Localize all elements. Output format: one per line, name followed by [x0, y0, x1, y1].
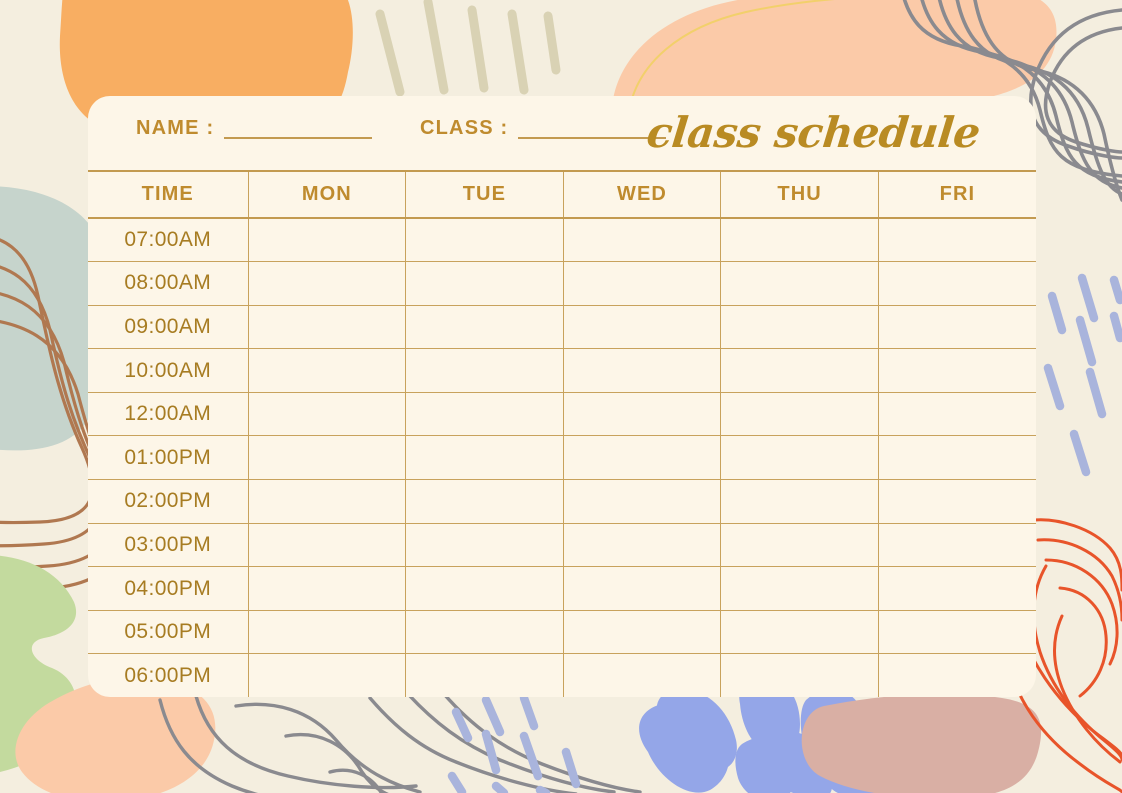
class-field-group: CLASS :: [420, 118, 666, 140]
schedule-cell[interactable]: [721, 218, 879, 262]
schedule-cell[interactable]: [248, 523, 406, 567]
schedule-cell[interactable]: [406, 218, 564, 262]
schedule-cell[interactable]: [721, 392, 879, 436]
schedule-cell[interactable]: [878, 218, 1036, 262]
table-row: 01:00PM: [88, 436, 1036, 480]
schedule-cell[interactable]: [406, 610, 564, 654]
schedule-cell[interactable]: [406, 349, 564, 393]
schedule-cell[interactable]: [563, 480, 721, 524]
time-label: 05:00PM: [88, 610, 248, 654]
schedule-cell[interactable]: [721, 480, 879, 524]
table-row: 03:00PM: [88, 523, 1036, 567]
table-row: 06:00PM: [88, 654, 1036, 697]
table-row: 09:00AM: [88, 305, 1036, 349]
schedule-cell[interactable]: [721, 654, 879, 697]
schedule-cell[interactable]: [878, 436, 1036, 480]
schedule-cell[interactable]: [406, 480, 564, 524]
schedule-cell[interactable]: [878, 523, 1036, 567]
table-header-row: TIME MON TUE WED THU FRI: [88, 172, 1036, 218]
column-header-fri: FRI: [878, 172, 1036, 218]
schedule-cell[interactable]: [878, 567, 1036, 611]
schedule-cell[interactable]: [721, 523, 879, 567]
schedule-cell[interactable]: [406, 392, 564, 436]
column-header-time: TIME: [88, 172, 248, 218]
schedule-cell[interactable]: [878, 654, 1036, 697]
table-row: 08:00AM: [88, 262, 1036, 306]
schedule-cell[interactable]: [563, 523, 721, 567]
class-input[interactable]: [518, 137, 666, 139]
column-header-thu: THU: [721, 172, 879, 218]
schedule-cell[interactable]: [563, 610, 721, 654]
schedule-cell[interactable]: [248, 610, 406, 654]
schedule-cell[interactable]: [248, 654, 406, 697]
name-input[interactable]: [224, 137, 372, 139]
schedule-card: NAME : CLASS : class schedule TIME MON T…: [88, 96, 1036, 697]
schedule-cell[interactable]: [248, 480, 406, 524]
time-label: 04:00PM: [88, 567, 248, 611]
schedule-cell[interactable]: [563, 218, 721, 262]
schedule-cell[interactable]: [721, 262, 879, 306]
time-label: 12:00AM: [88, 392, 248, 436]
schedule-cell[interactable]: [248, 218, 406, 262]
table-row: 10:00AM: [88, 349, 1036, 393]
schedule-cell[interactable]: [878, 262, 1036, 306]
schedule-cell[interactable]: [248, 262, 406, 306]
schedule-cell[interactable]: [878, 392, 1036, 436]
schedule-table: TIME MON TUE WED THU FRI 07:00AM08:00AM0…: [88, 172, 1036, 697]
rose-blob-bottom-right: [802, 694, 1041, 793]
time-label: 10:00AM: [88, 349, 248, 393]
schedule-cell[interactable]: [563, 305, 721, 349]
time-label: 01:00PM: [88, 436, 248, 480]
name-label: NAME :: [136, 118, 214, 140]
class-label: CLASS :: [420, 118, 508, 140]
schedule-cell[interactable]: [406, 567, 564, 611]
time-label: 07:00AM: [88, 218, 248, 262]
schedule-cell[interactable]: [248, 305, 406, 349]
schedule-cell[interactable]: [248, 392, 406, 436]
schedule-cell[interactable]: [563, 262, 721, 306]
name-field-group: NAME :: [136, 118, 372, 140]
schedule-cell[interactable]: [878, 610, 1036, 654]
column-header-wed: WED: [563, 172, 721, 218]
schedule-cell[interactable]: [406, 305, 564, 349]
schedule-cell[interactable]: [248, 567, 406, 611]
schedule-cell[interactable]: [563, 436, 721, 480]
schedule-poster: NAME : CLASS : class schedule TIME MON T…: [0, 0, 1122, 793]
schedule-cell[interactable]: [721, 610, 879, 654]
time-label: 03:00PM: [88, 523, 248, 567]
time-label: 08:00AM: [88, 262, 248, 306]
schedule-cell[interactable]: [406, 262, 564, 306]
column-header-mon: MON: [248, 172, 406, 218]
table-row: 12:00AM: [88, 392, 1036, 436]
schedule-cell[interactable]: [878, 305, 1036, 349]
schedule-cell[interactable]: [721, 349, 879, 393]
schedule-cell[interactable]: [563, 567, 721, 611]
card-header: NAME : CLASS : class schedule: [88, 96, 1036, 172]
schedule-cell[interactable]: [248, 436, 406, 480]
schedule-cell[interactable]: [563, 654, 721, 697]
schedule-cell[interactable]: [721, 567, 879, 611]
table-row: 04:00PM: [88, 567, 1036, 611]
schedule-cell[interactable]: [721, 305, 879, 349]
table-row: 05:00PM: [88, 610, 1036, 654]
schedule-cell[interactable]: [563, 392, 721, 436]
schedule-cell[interactable]: [878, 480, 1036, 524]
table-row: 07:00AM: [88, 218, 1036, 262]
schedule-cell[interactable]: [406, 436, 564, 480]
schedule-cell[interactable]: [406, 654, 564, 697]
page-title: class schedule: [645, 108, 983, 157]
column-header-tue: TUE: [406, 172, 564, 218]
schedule-cell[interactable]: [248, 349, 406, 393]
table-row: 02:00PM: [88, 480, 1036, 524]
schedule-cell[interactable]: [563, 349, 721, 393]
time-label: 02:00PM: [88, 480, 248, 524]
time-label: 06:00PM: [88, 654, 248, 697]
schedule-cell[interactable]: [406, 523, 564, 567]
schedule-cell[interactable]: [721, 436, 879, 480]
time-label: 09:00AM: [88, 305, 248, 349]
schedule-cell[interactable]: [878, 349, 1036, 393]
